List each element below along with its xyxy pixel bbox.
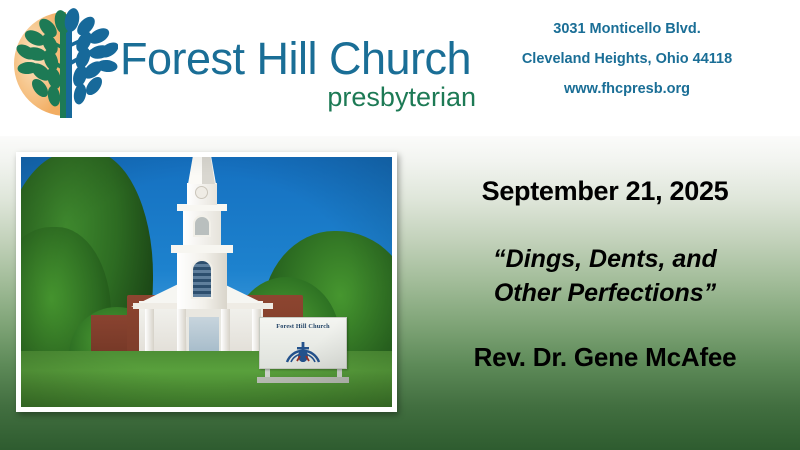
service-info-panel: September 21, 2025 “Dings, Dents, and Ot… [410, 136, 800, 450]
sermon-title-line2: Other Perfections” [410, 276, 800, 310]
address-city-state-zip: Cleveland Heights, Ohio 44118 [472, 44, 782, 74]
logo-name-primary: Forest Hill Church [120, 34, 480, 84]
tree-logo-icon [10, 6, 118, 124]
photo-vignette [21, 157, 392, 407]
church-exterior-photo: Forest Hill Church [16, 152, 397, 412]
sermon-title-line1: “Dings, Dents, and [410, 242, 800, 276]
logo-name-secondary: presbyterian [120, 82, 480, 112]
header-bar: Forest Hill Church presbyterian 3031 Mon… [0, 0, 800, 136]
photo-canvas: Forest Hill Church [21, 157, 392, 407]
sermon-announcement-slide: Forest Hill Church presbyterian 3031 Mon… [0, 0, 800, 450]
church-logo: Forest Hill Church presbyterian [8, 4, 478, 130]
service-date: September 21, 2025 [410, 176, 800, 207]
sermon-title: “Dings, Dents, and Other Perfections” [410, 242, 800, 310]
church-address: 3031 Monticello Blvd. Cleveland Heights,… [472, 14, 782, 104]
address-street: 3031 Monticello Blvd. [472, 14, 782, 44]
logo-wordmark: Forest Hill Church presbyterian [120, 34, 480, 129]
preacher-name: Rev. Dr. Gene McAfee [410, 342, 800, 373]
church-website[interactable]: www.fhcpresb.org [472, 74, 782, 104]
